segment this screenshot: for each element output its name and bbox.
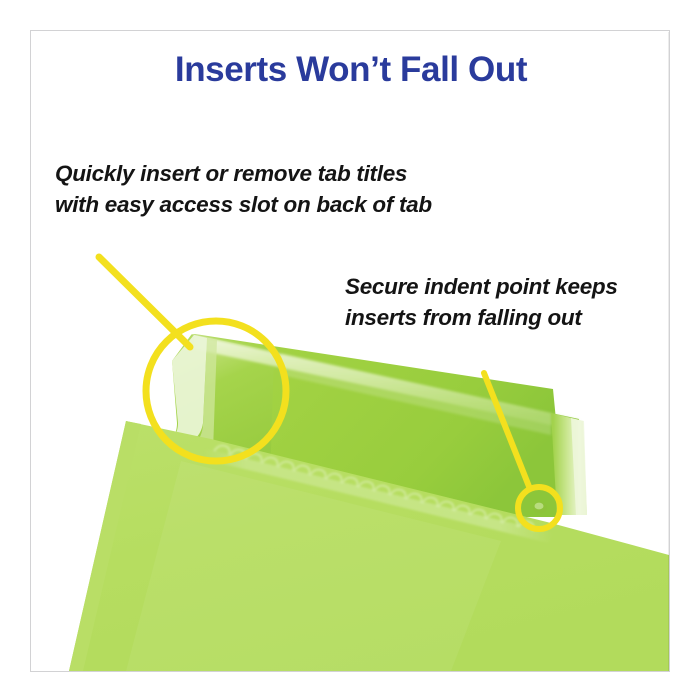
indent-point: [533, 503, 547, 514]
callout-indent-point-line1: Secure indent point keeps: [345, 271, 618, 302]
callout-access-slot-line1: Quickly insert or remove tab titles: [55, 158, 432, 189]
product-feature-image: Inserts Won’t Fall Out: [0, 0, 700, 700]
callout-indent-point: Secure indent point keeps inserts from f…: [345, 271, 618, 333]
photo-frame: Inserts Won’t Fall Out: [30, 30, 670, 672]
product-photograph: [31, 31, 669, 671]
callout-access-slot-line2: with easy access slot on back of tab: [55, 189, 432, 220]
callout-indent-point-line2: inserts from falling out: [345, 302, 618, 333]
callout-access-slot: Quickly insert or remove tab titles with…: [55, 158, 432, 220]
